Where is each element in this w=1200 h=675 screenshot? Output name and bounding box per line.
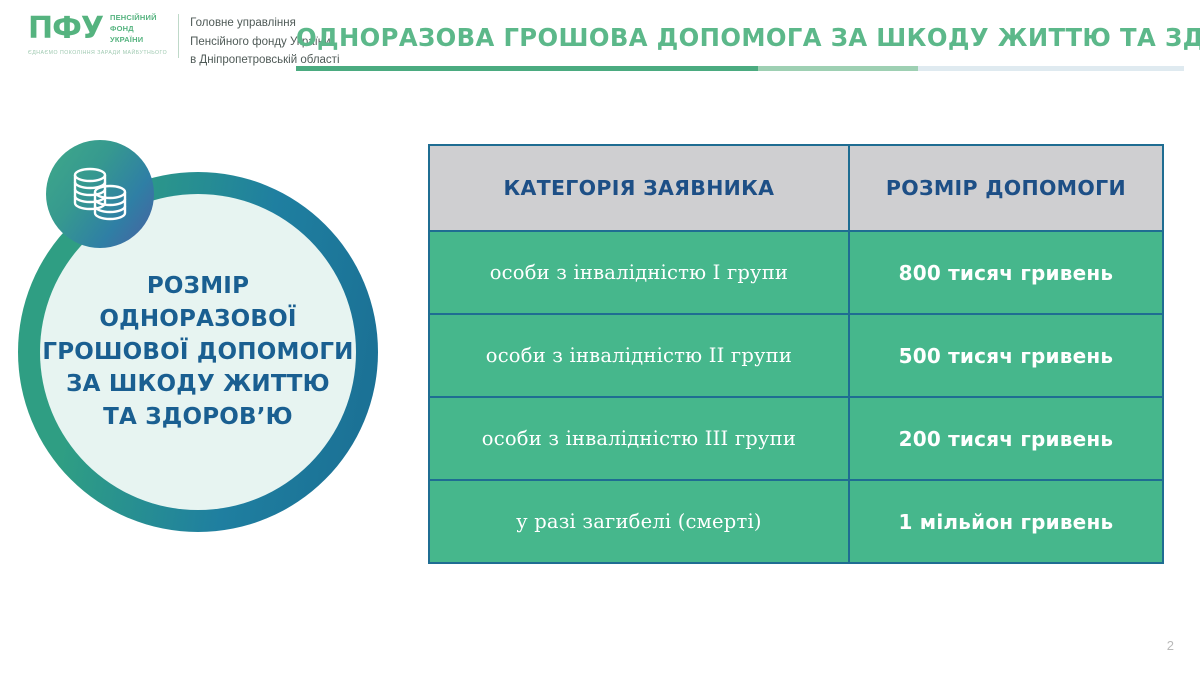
logo-subtitle-line-2: ФОНД [110,24,134,33]
badge-text-line-2: ОДНОРАЗОВОЇ [42,303,353,336]
table-row: особи з інвалідністю III групи 200 тисяч… [429,397,1163,480]
logo-subtitle-line-3: УКРАЇНИ [110,35,143,44]
rule-segment-3 [918,66,1184,71]
organization-line-3: в Дніпропетровській області [190,54,339,66]
cell-category: особи з інвалідністю II групи [429,314,849,397]
coins-icon-bubble [46,140,154,248]
logo-subtitle-line-1: ПЕНСІЙНИЙ [110,13,157,22]
aid-amounts-table-wrap: КАТЕГОРІЯ ЗАЯВНИКА РОЗМІР ДОПОМОГИ особи… [428,144,1164,564]
page-number: 2 [1167,638,1174,653]
logo-vertical-divider [178,14,179,58]
cell-amount: 500 тисяч гривень [849,314,1163,397]
cell-amount: 1 мільйон гривень [849,480,1163,563]
logo-mark-wrap: ПФУ ПЕНСІЙНИЙФОНДУКРАЇНИ ЄДНАЄМО ПОКОЛІН… [28,12,167,56]
badge-text: РОЗМІР ОДНОРАЗОВОЇ ГРОШОВОЇ ДОПОМОГИ ЗА … [36,270,359,433]
coins-stack-icon [69,165,131,223]
badge-text-line-4: ЗА ШКОДУ ЖИТТЮ [42,368,353,401]
pfu-logo: ПФУ ПЕНСІЙНИЙФОНДУКРАЇНИ ЄДНАЄМО ПОКОЛІН… [28,12,340,70]
table-header-row: КАТЕГОРІЯ ЗАЯВНИКА РОЗМІР ДОПОМОГИ [429,145,1163,231]
aid-amounts-table: КАТЕГОРІЯ ЗАЯВНИКА РОЗМІР ДОПОМОГИ особи… [428,144,1164,564]
logo-row: ПФУ ПЕНСІЙНИЙФОНДУКРАЇНИ [28,12,157,46]
column-header-amount: РОЗМІР ДОПОМОГИ [849,145,1163,231]
badge-text-line-1: РОЗМІР [42,270,353,303]
badge-text-line-5: ТА ЗДОРОВ’Ю [42,401,353,434]
cell-amount: 200 тисяч гривень [849,397,1163,480]
header-divider-rule [296,66,1184,71]
rule-segment-1 [296,66,758,71]
logo-slogan: ЄДНАЄМО ПОКОЛІННЯ ЗАРАДИ МАЙБУТНЬОГО [28,50,167,56]
table-body: особи з інвалідністю I групи 800 тисяч г… [429,231,1163,563]
cell-category: у разі загибелі (смерті) [429,480,849,563]
rule-segment-2 [758,66,918,71]
table-row: особи з інвалідністю II групи 500 тисяч … [429,314,1163,397]
table-row: особи з інвалідністю I групи 800 тисяч г… [429,231,1163,314]
pfu-wordmark-icon: ПФУ [28,14,103,44]
page-title: ОДНОРАЗОВА ГРОШОВА ДОПОМОГА ЗА ШКОДУ ЖИТ… [296,23,1150,52]
cell-category: особи з інвалідністю I групи [429,231,849,314]
cell-amount: 800 тисяч гривень [849,231,1163,314]
column-header-category: КАТЕГОРІЯ ЗАЯВНИКА [429,145,849,231]
logo-subtitle: ПЕНСІЙНИЙФОНДУКРАЇНИ [110,12,157,46]
table-header: КАТЕГОРІЯ ЗАЯВНИКА РОЗМІР ДОПОМОГИ [429,145,1163,231]
table-row: у разі загибелі (смерті) 1 мільйон гриве… [429,480,1163,563]
cell-category: особи з інвалідністю III групи [429,397,849,480]
organization-line-1: Головне управління [190,17,296,29]
badge-text-line-3: ГРОШОВОЇ ДОПОМОГИ [42,336,353,369]
page-header: ПФУ ПЕНСІЙНИЙФОНДУКРАЇНИ ЄДНАЄМО ПОКОЛІН… [0,0,1200,78]
